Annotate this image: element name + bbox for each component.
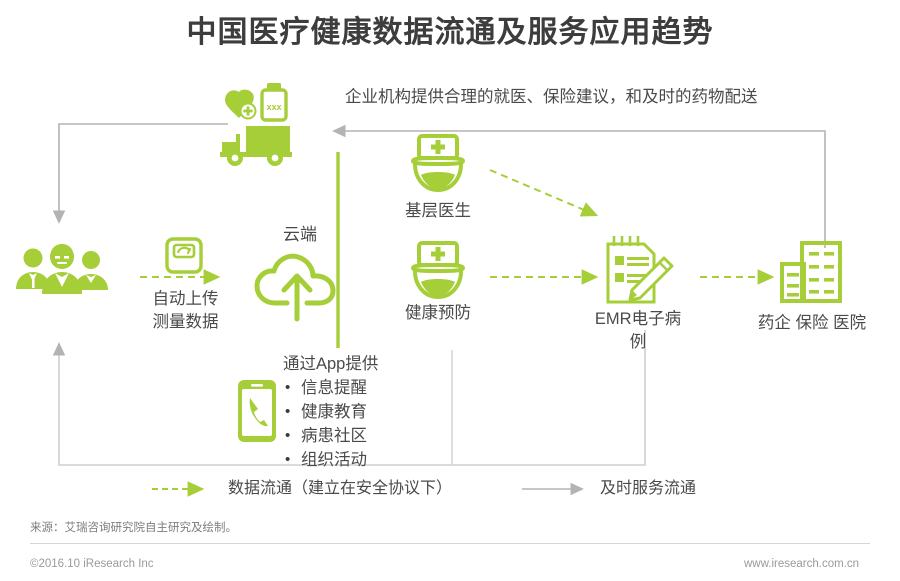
hospital-buildings-icon xyxy=(778,240,844,306)
legend-service-flow-label: 及时服务流通 xyxy=(600,477,696,501)
nurse-cap-icon xyxy=(405,240,471,302)
data-flow-doctor-to-emr xyxy=(490,170,596,215)
doctor-label: 基层医生 xyxy=(388,200,488,222)
prevention-label: 健康预防 xyxy=(388,302,488,324)
app-service-list: 信息提醒 健康教育 病患社区 组织活动 xyxy=(283,376,463,472)
doctor-node xyxy=(405,133,471,195)
emr-label-line1: EMR电子病 xyxy=(578,308,698,330)
app-services-block: 通过App提供 信息提醒 健康教育 病患社区 组织活动 xyxy=(283,352,463,472)
buildings-label: 药企 保险 医院 xyxy=(746,312,878,334)
emr-notepad-pencil-icon xyxy=(600,232,680,310)
svg-text:xxx: xxx xyxy=(266,102,281,112)
prevention-node xyxy=(405,240,471,302)
mobile-phone-icon xyxy=(236,378,278,444)
infographic-canvas: 中国医疗健康数据流通及服务应用趋势 xyxy=(0,0,900,581)
app-phone-node xyxy=(236,378,278,444)
cloud-label: 云端 xyxy=(255,224,345,246)
page-title: 中国医疗健康数据流通及服务应用趋势 xyxy=(0,14,900,52)
source-note: 来源：艾瑞咨询研究院自主研究及绘制。 xyxy=(30,519,237,535)
legend: 数据流通（建立在安全协议下） 及时服务流通 xyxy=(150,477,770,501)
emr-node xyxy=(600,232,680,310)
people-node xyxy=(12,242,112,300)
delivery-truck-medicine-icon: xxx xyxy=(215,78,335,178)
copyright-text: ©2016.10 iResearch Inc xyxy=(30,558,154,570)
legend-data-flow-label: 数据流通（建立在安全协议下） xyxy=(228,477,452,501)
list-item: 组织活动 xyxy=(301,448,463,472)
cloud-upload-icon xyxy=(253,245,345,325)
delivery-node: xxx xyxy=(215,78,335,178)
weight-scale-icon xyxy=(162,236,206,276)
delivery-caption: 企业机构提供合理的就医、保险建议，和及时的药物配送 xyxy=(345,86,865,108)
list-item: 病患社区 xyxy=(301,424,463,448)
app-heading: 通过App提供 xyxy=(283,352,463,376)
nurse-cap-icon xyxy=(405,133,471,195)
service-flow-left-path xyxy=(59,124,228,222)
list-item: 健康教育 xyxy=(301,400,463,424)
scale-label-line2: 测量数据 xyxy=(133,311,238,333)
people-group-icon xyxy=(12,242,112,300)
scale-label-line1: 自动上传 xyxy=(133,288,238,310)
buildings-node xyxy=(778,240,844,306)
cloud-node xyxy=(253,245,345,325)
emr-label-line2: 例 xyxy=(578,331,698,353)
list-item: 信息提醒 xyxy=(301,376,463,400)
website-link[interactable]: www.iresearch.com.cn xyxy=(744,558,859,570)
scale-node xyxy=(162,236,206,276)
footer-divider xyxy=(30,543,870,544)
